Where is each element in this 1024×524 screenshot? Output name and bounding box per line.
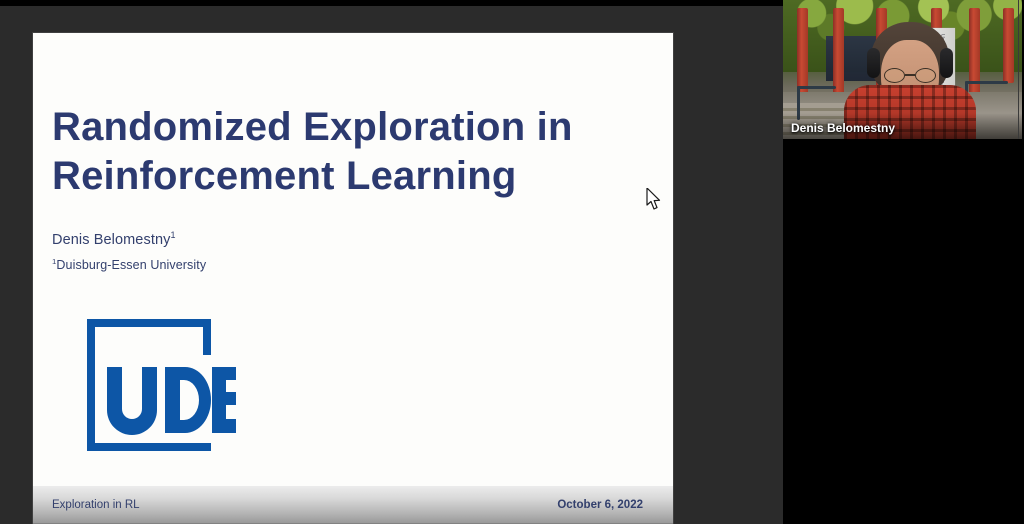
slide-author: Denis Belomestny1 (52, 232, 176, 248)
participant-video-tile[interactable]: Universität Duisburg-Essen Denis Belomes… (783, 0, 1022, 139)
slide-author-marker: 1 (170, 230, 175, 240)
slide-affiliation: 1Duisburg-Essen University (52, 258, 206, 272)
slide-author-name: Denis Belomestny (52, 232, 170, 248)
shared-screen-stage: Randomized Exploration in Reinforcement … (0, 6, 783, 524)
top-black-band (0, 0, 783, 6)
slide-title: Randomized Exploration in Reinforcement … (52, 103, 612, 201)
slide-footer: Exploration in RL October 6, 2022 (33, 486, 673, 524)
slide-title-line-2: Reinforcement Learning (52, 152, 612, 201)
slide-affiliation-name: Duisburg-Essen University (56, 258, 206, 272)
ude-logo (81, 315, 236, 455)
slide-footer-right: October 6, 2022 (557, 499, 643, 511)
presentation-slide[interactable]: Randomized Exploration in Reinforcement … (33, 33, 673, 524)
screen: Randomized Exploration in Reinforcement … (0, 0, 1024, 524)
tile-divider (1018, 0, 1019, 139)
arrow-cursor (646, 188, 662, 210)
slide-footer-left: Exploration in RL (52, 499, 140, 511)
participant-rail: Universität Duisburg-Essen Denis Belomes… (783, 0, 1024, 524)
participant-name-label: Denis Belomestny (791, 121, 895, 135)
glasses-icon (884, 68, 936, 83)
slide-title-line-1: Randomized Exploration in (52, 103, 612, 152)
slide-content: Randomized Exploration in Reinforcement … (33, 33, 673, 486)
